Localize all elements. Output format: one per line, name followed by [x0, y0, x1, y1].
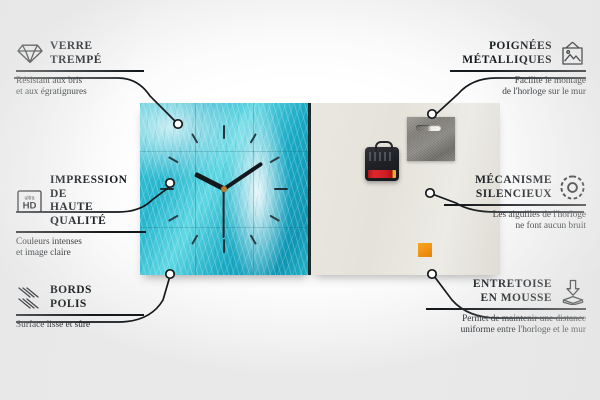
callout-header: POIGNÉES MÉTALLIQUES [450, 40, 586, 67]
callout-bords-polis: BORDS POLIS Surface lisse et sûre [16, 284, 144, 331]
callout-poignees-metalliques: POIGNÉES MÉTALLIQUES Facilite le montage… [450, 40, 586, 98]
callout-title: VERRE TREMPÉ [50, 40, 102, 67]
callout-description: Surface lisse et sûre [16, 320, 144, 331]
callout-rule [444, 204, 586, 206]
clock-tick [224, 188, 288, 190]
callout-description: Résistant aux bris et aux égratignures [16, 76, 144, 99]
clock-movement [365, 147, 399, 181]
hanger-slot [416, 125, 441, 131]
clock-tick [223, 125, 225, 189]
callout-header: BORDS POLIS [16, 284, 144, 311]
clock-second-hand [223, 189, 225, 238]
callout-rule [16, 314, 144, 316]
diamond-icon [16, 40, 43, 67]
picture-frame-icon [559, 40, 586, 67]
foam-spacer [418, 243, 432, 257]
callout-mecanisme-silencieux: MÉCANISME SILENCIEUX Les aiguilles de l'… [444, 174, 586, 232]
callout-entretoise-en-mousse: ENTRETOISE EN MOUSSE Permet de maintenir… [426, 278, 586, 336]
callout-rule [426, 308, 586, 310]
clock-center-hub [221, 186, 227, 192]
callout-title: MÉCANISME SILENCIEUX [475, 174, 552, 201]
callout-title: BORDS POLIS [50, 284, 92, 311]
callout-header: ultra HD IMPRESSION DE HAUTE QUALITÉ [16, 174, 146, 228]
movement-detail [369, 152, 391, 161]
callout-description: Permet de maintenir une distance uniform… [426, 314, 586, 337]
callout-header: ENTRETOISE EN MOUSSE [426, 278, 586, 305]
infographic-canvas: VERRE TREMPÉ Résistant aux bris et aux é… [0, 0, 600, 400]
clock-tick [160, 188, 224, 190]
metal-hanger-plate [407, 117, 455, 161]
foam-spacer-icon [559, 278, 586, 305]
clock-tick [223, 133, 257, 189]
svg-text:HD: HD [23, 200, 37, 211]
callout-rule [16, 231, 146, 233]
wall-clock-face [140, 103, 311, 275]
gear-icon [559, 174, 586, 201]
polished-edges-icon [16, 284, 43, 311]
clock-tick [168, 188, 224, 222]
clock-dial [140, 103, 308, 275]
callout-impression-haute-qualite: ultra HD IMPRESSION DE HAUTE QUALITÉ Cou… [16, 174, 146, 259]
callout-header: MÉCANISME SILENCIEUX [444, 174, 586, 201]
callout-rule [16, 70, 144, 72]
callout-description: Facilite le montage de l'horloge sur le … [450, 76, 586, 99]
callout-description: Couleurs intenses et image claire [16, 237, 146, 260]
aa-battery [368, 170, 396, 178]
callout-description: Les aiguilles de l'horloge ne font aucun… [444, 210, 586, 233]
callout-header: VERRE TREMPÉ [16, 40, 144, 67]
ultra-hd-icon: ultra HD [16, 188, 43, 215]
callout-title: ENTRETOISE EN MOUSSE [473, 278, 552, 305]
callout-rule [450, 70, 586, 72]
movement-bail [375, 141, 393, 152]
callout-verre-trempe: VERRE TREMPÉ Résistant aux bris et aux é… [16, 40, 144, 98]
callout-title: IMPRESSION DE HAUTE QUALITÉ [50, 174, 146, 228]
callout-title: POIGNÉES MÉTALLIQUES [462, 40, 552, 67]
